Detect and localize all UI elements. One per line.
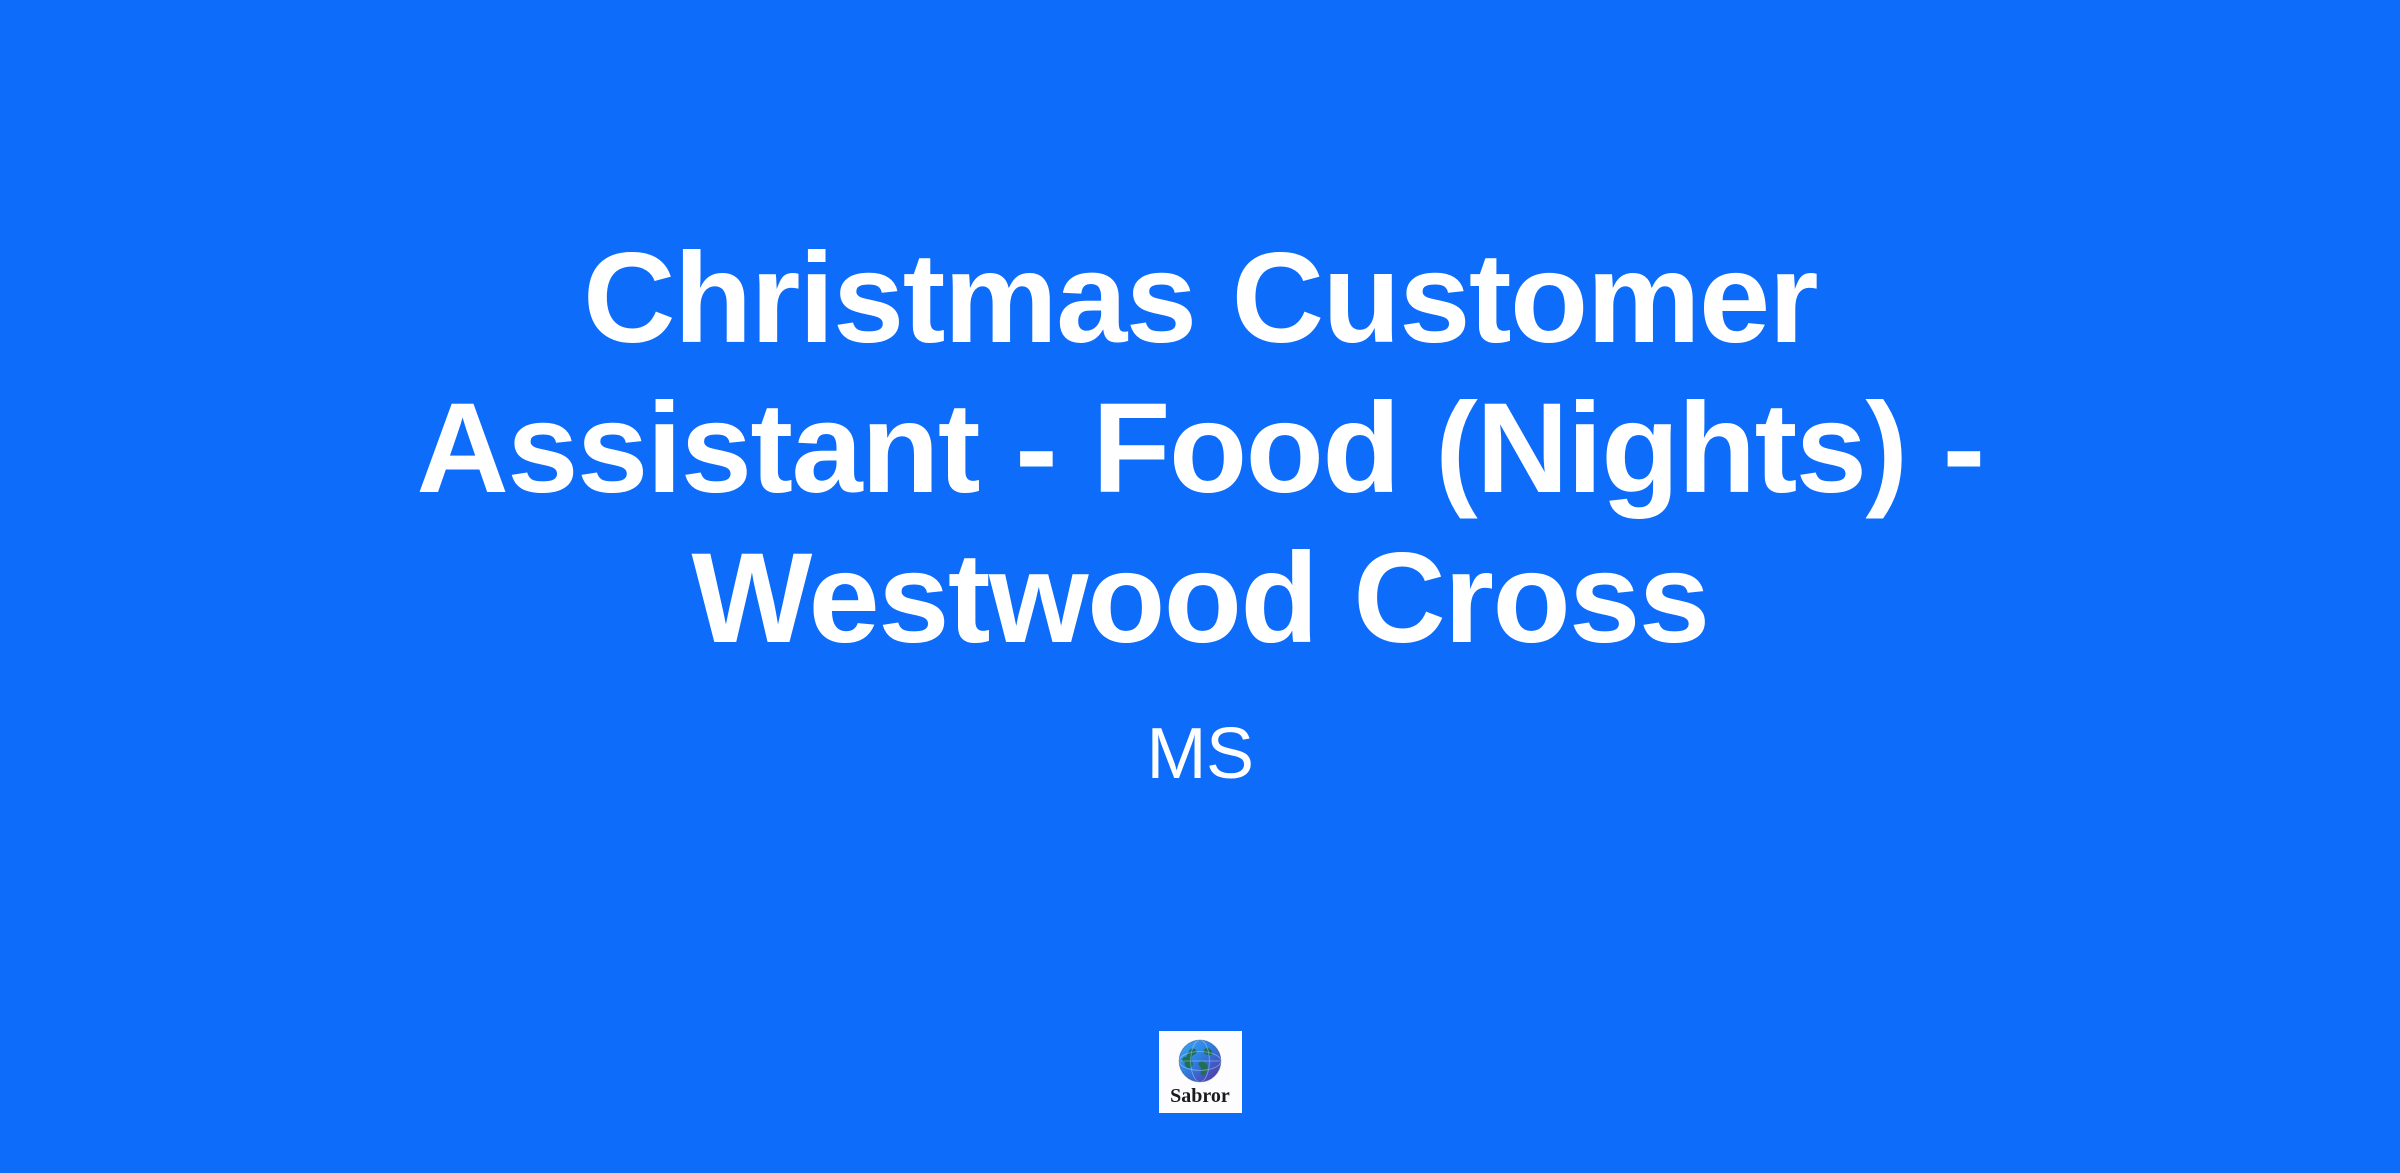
slide-root: Christmas Customer Assistant - Food (Nig… xyxy=(0,0,2400,1173)
page-subtitle: MS xyxy=(1147,712,1254,796)
page-title: Christmas Customer Assistant - Food (Nig… xyxy=(350,224,2050,674)
hero-section: Christmas Customer Assistant - Food (Nig… xyxy=(0,0,2400,1020)
globe-icon xyxy=(1177,1038,1223,1084)
brand-logo: Sabror xyxy=(1159,1031,1242,1113)
brand-footer: Sabror xyxy=(0,1031,2400,1113)
brand-name: Sabror xyxy=(1170,1085,1230,1107)
